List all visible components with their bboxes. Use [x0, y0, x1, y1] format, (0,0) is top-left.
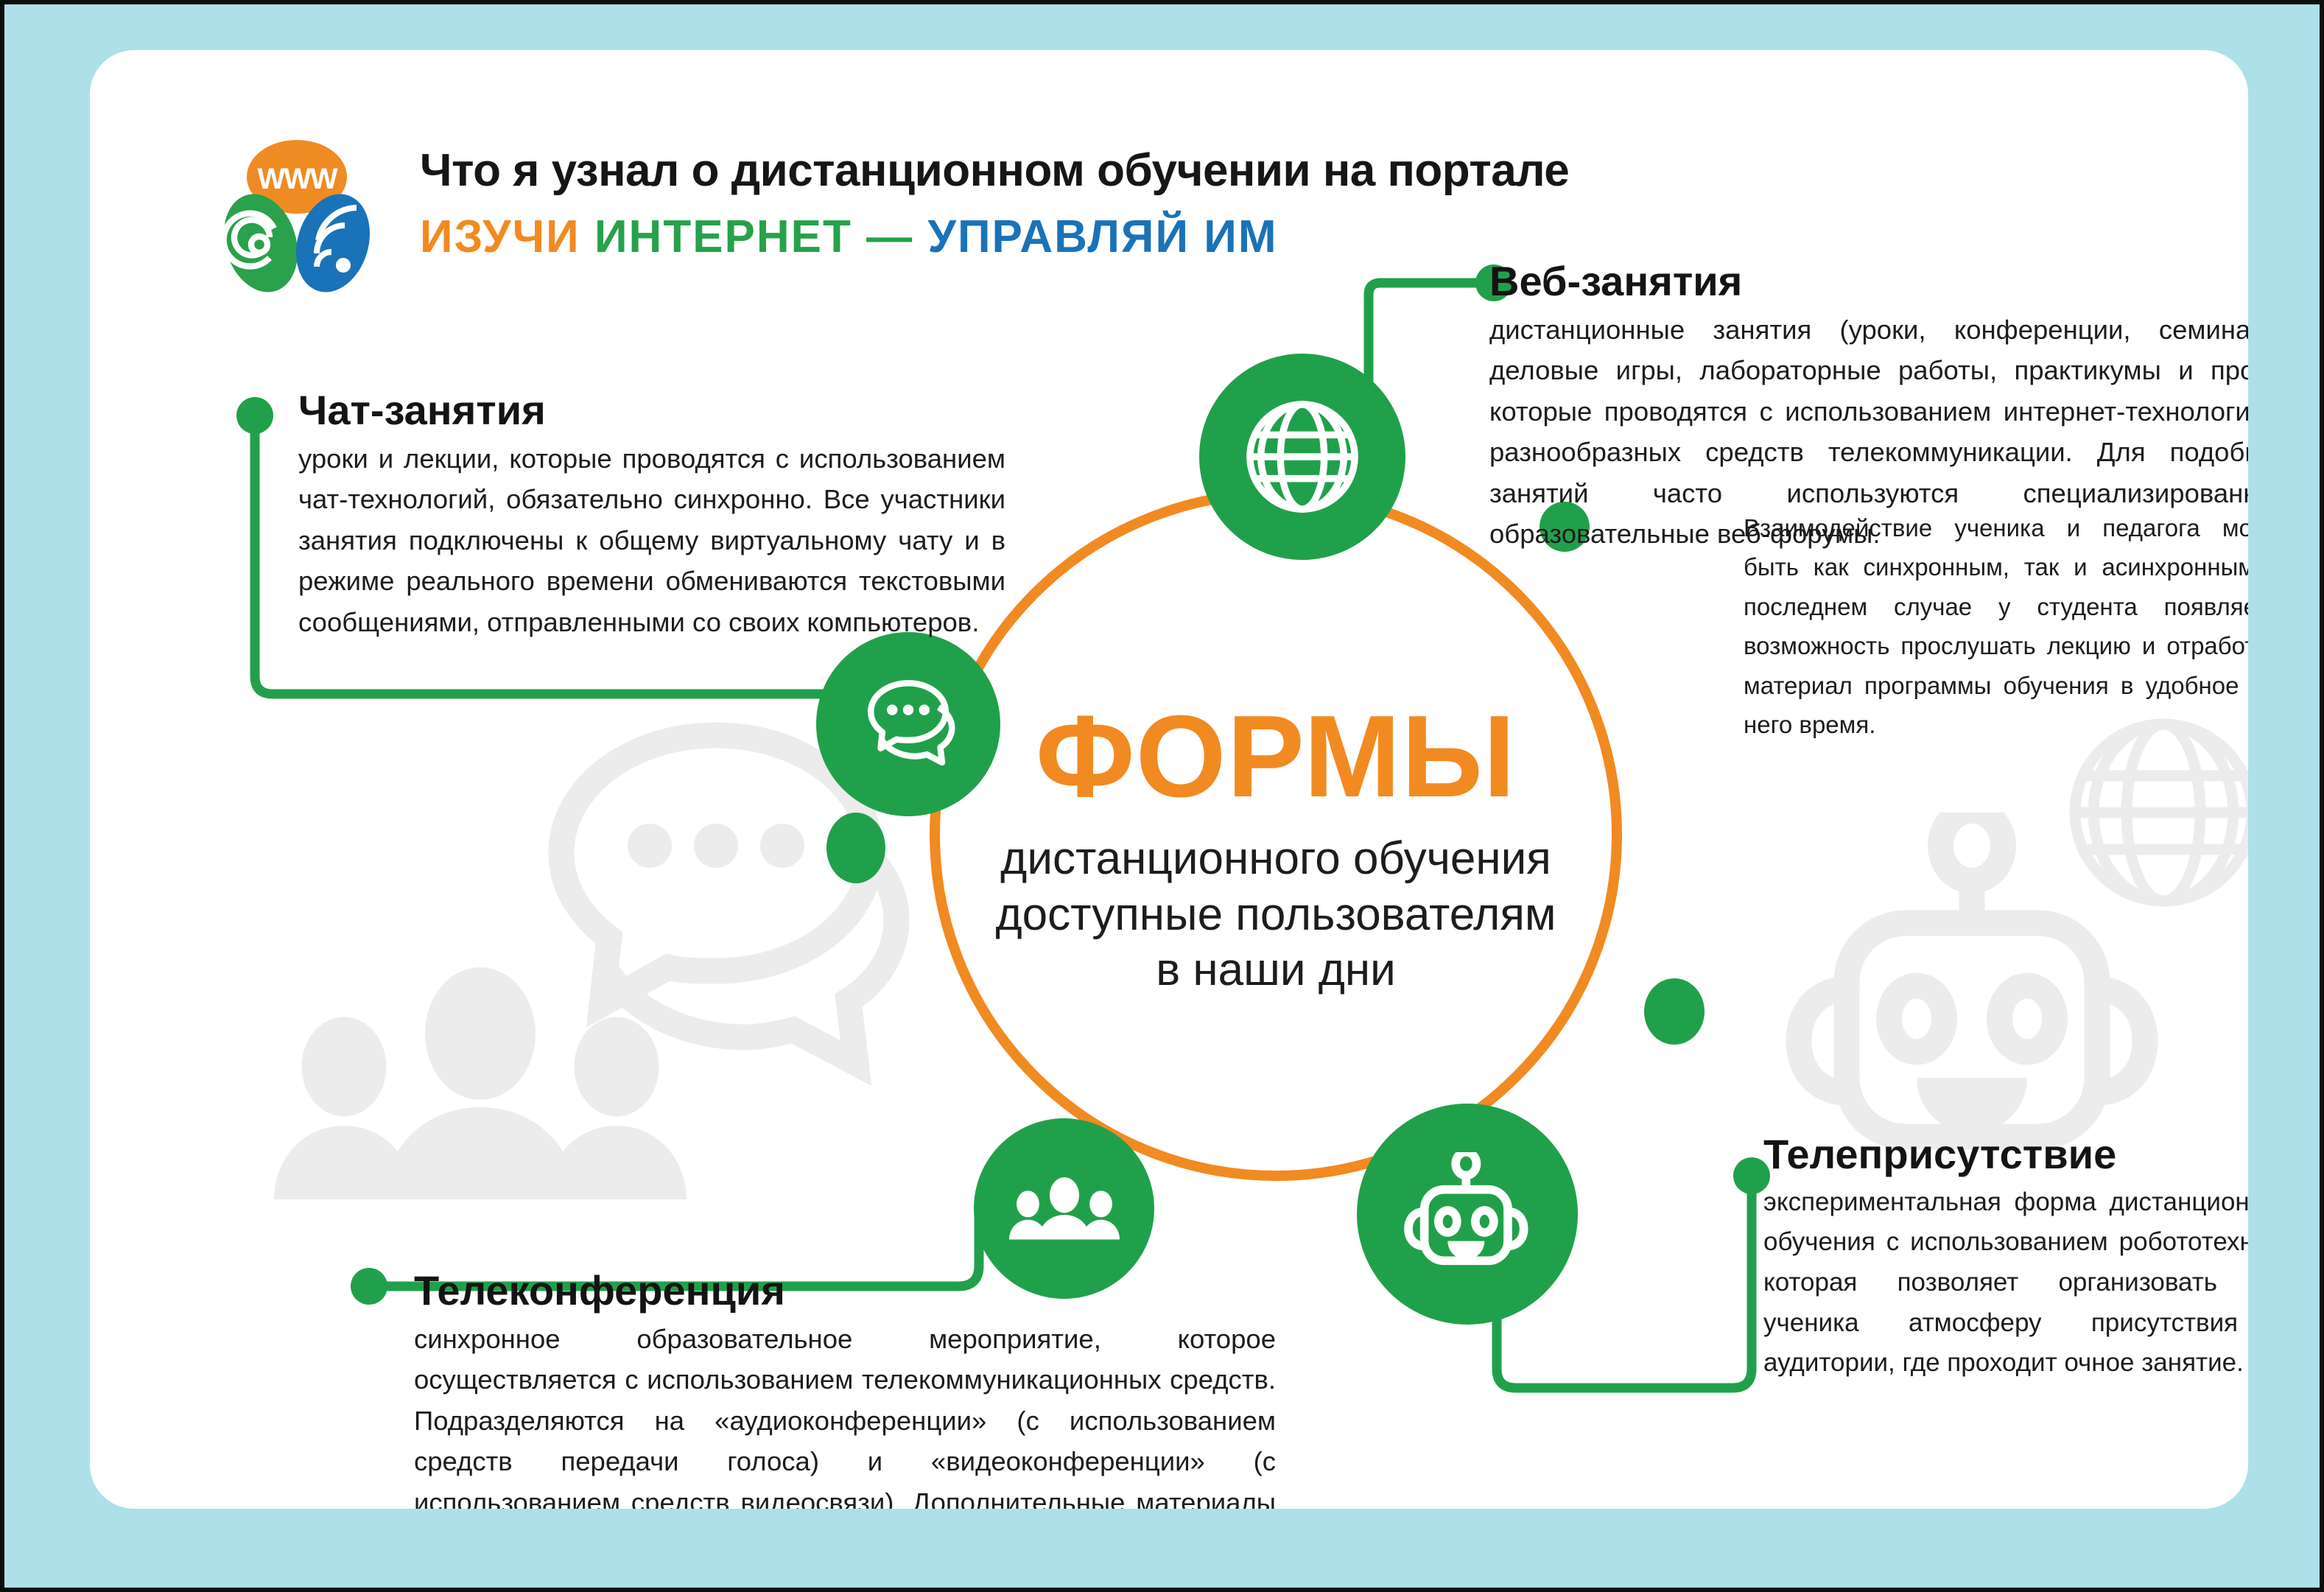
block-web-note: Взаимодействие ученика и педагога может …: [1744, 508, 2248, 745]
infographic-poster: WWW Что я узнал о дистанционном обучении…: [0, 0, 2324, 1592]
block-chat-heading: Чат-занятия: [298, 389, 1005, 432]
brand-part-1: ИЗУЧИ: [420, 211, 580, 262]
block-chat-body: уроки и лекции, которые проводятся с исп…: [298, 438, 1005, 642]
brand-part-3: УПРАВЛЯЙ ИМ: [927, 211, 1277, 262]
block-web-heading: Веб-занятия: [1489, 260, 2248, 304]
poster-card: WWW Что я узнал о дистанционном обучении…: [90, 50, 2248, 1509]
page-title: Что я узнал о дистанционном обучении на …: [420, 144, 1569, 197]
node-web[interactable]: [1199, 354, 1405, 560]
svg-text:WWW: WWW: [257, 163, 338, 195]
block-web-note-body: Взаимодействие ученика и педагога может …: [1744, 508, 2248, 745]
node-telepresence[interactable]: [1357, 1104, 1578, 1325]
block-conference: Телеконференция синхронное образовательн…: [414, 1269, 1276, 1509]
portal-logo: WWW: [220, 137, 374, 293]
robot-icon: [1397, 1152, 1537, 1276]
block-telepresence-heading: Телеприсутствие: [1763, 1133, 2248, 1177]
ring-dot-right: [1644, 978, 1705, 1045]
center-line-3: в наши дни: [930, 942, 1622, 998]
center-line-2: доступные пользователям: [930, 887, 1622, 943]
block-telepresence: Телеприсутствие экспериментальная форма …: [1763, 1133, 2248, 1384]
people-group-icon: [1009, 1174, 1120, 1244]
brand-lockup: ИЗУЧИ ИНТЕРНЕТ — УПРАВЛЯЙ ИМ: [420, 211, 1277, 263]
center-line-1: дистанционного обучения: [930, 831, 1622, 887]
block-telepresence-body: экспериментальная форма дистанционного о…: [1763, 1182, 2248, 1384]
center-text: ФОРМЫ дистанционного обучения доступные …: [930, 698, 1622, 998]
watermark-people-group-icon: [274, 964, 687, 1207]
block-chat: Чат-занятия уроки и лекции, которые пров…: [298, 389, 1005, 642]
center-headline: ФОРМЫ: [930, 698, 1622, 815]
ring-dot-left: [826, 813, 885, 883]
globe-icon: [1243, 398, 1361, 516]
block-conference-body: синхронное образовательное мероприятие, …: [414, 1319, 1276, 1509]
block-conference-heading: Телеконференция: [414, 1269, 1276, 1313]
brand-part-2: ИНТЕРНЕТ —: [594, 211, 913, 262]
